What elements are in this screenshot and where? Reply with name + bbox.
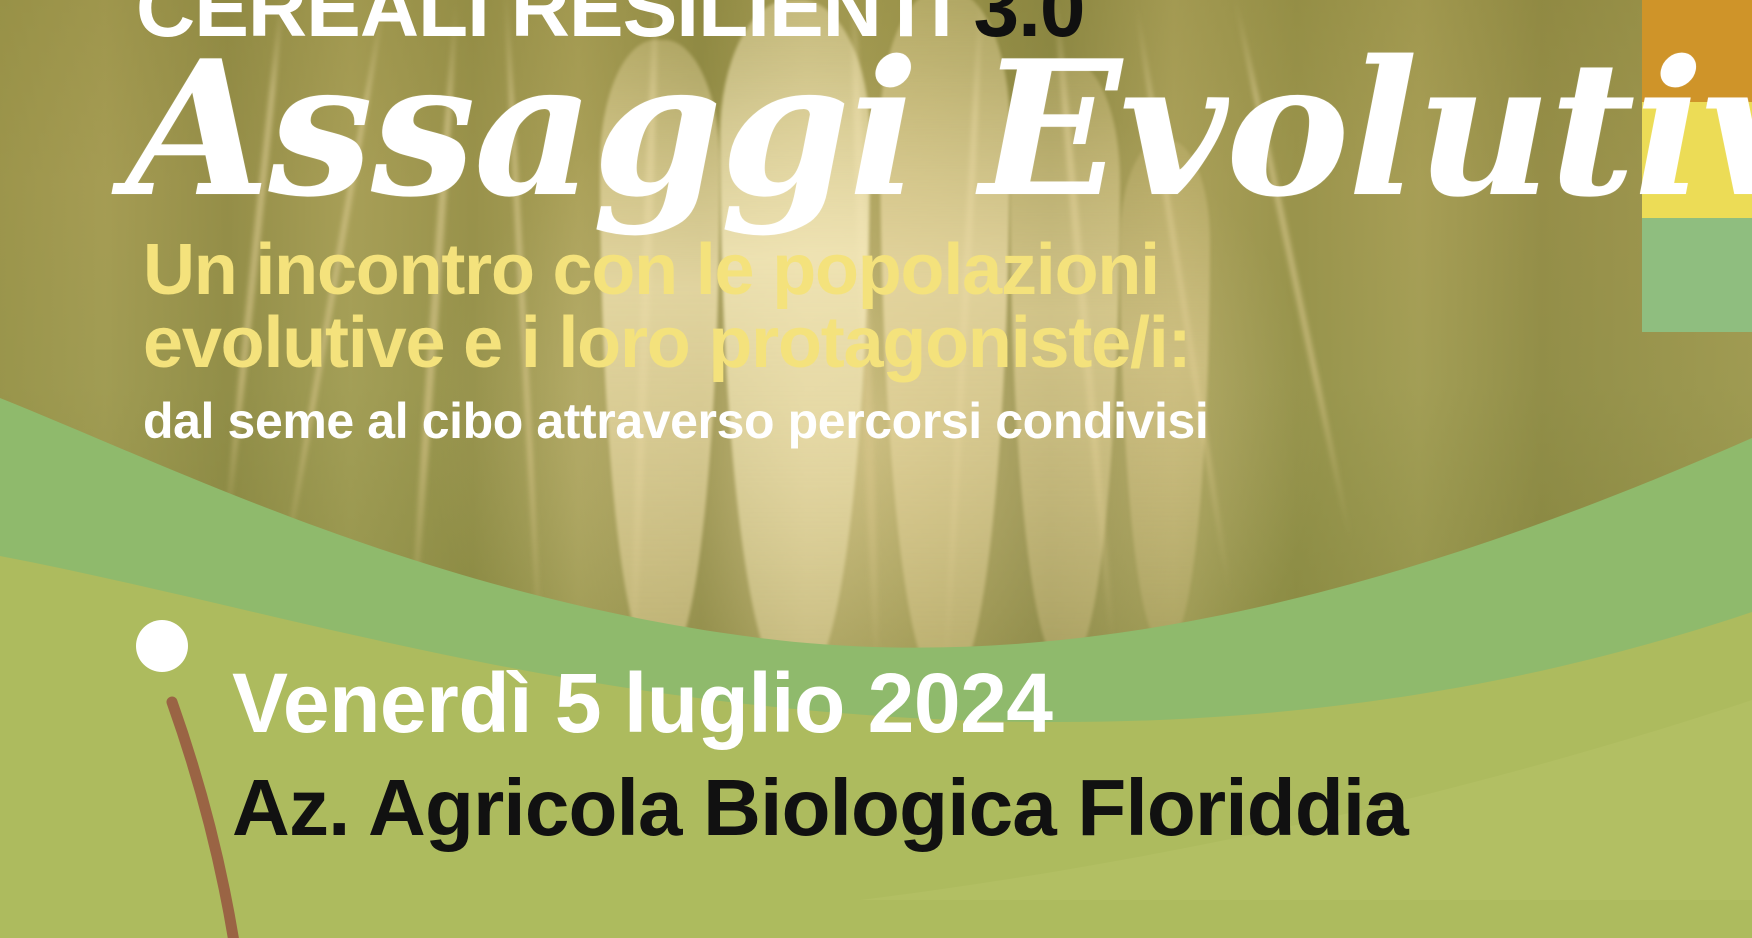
wheat-stem-icon [160,694,240,938]
event-venue: Az. Agricola Biologica Floriddia [232,762,1408,854]
event-date: Venerdì 5 luglio 2024 [232,655,1053,752]
subtitle-yellow-line-2: evolutive e i loro protagoniste/i: [143,307,1433,380]
subtitle-yellow: Un incontro con le popolazioni evolutive… [143,234,1433,381]
subtitle-white: dal seme al cibo attraverso percorsi con… [143,392,1433,450]
subtitle-yellow-line-1: Un incontro con le popolazioni [143,234,1433,307]
poster-canvas: CEREALI RESILIENTI 3.0 Assaggi Evolutivi… [0,0,1752,938]
page-title: Assaggi Evolutivi [126,36,1446,222]
seed-dot-icon [136,620,188,672]
